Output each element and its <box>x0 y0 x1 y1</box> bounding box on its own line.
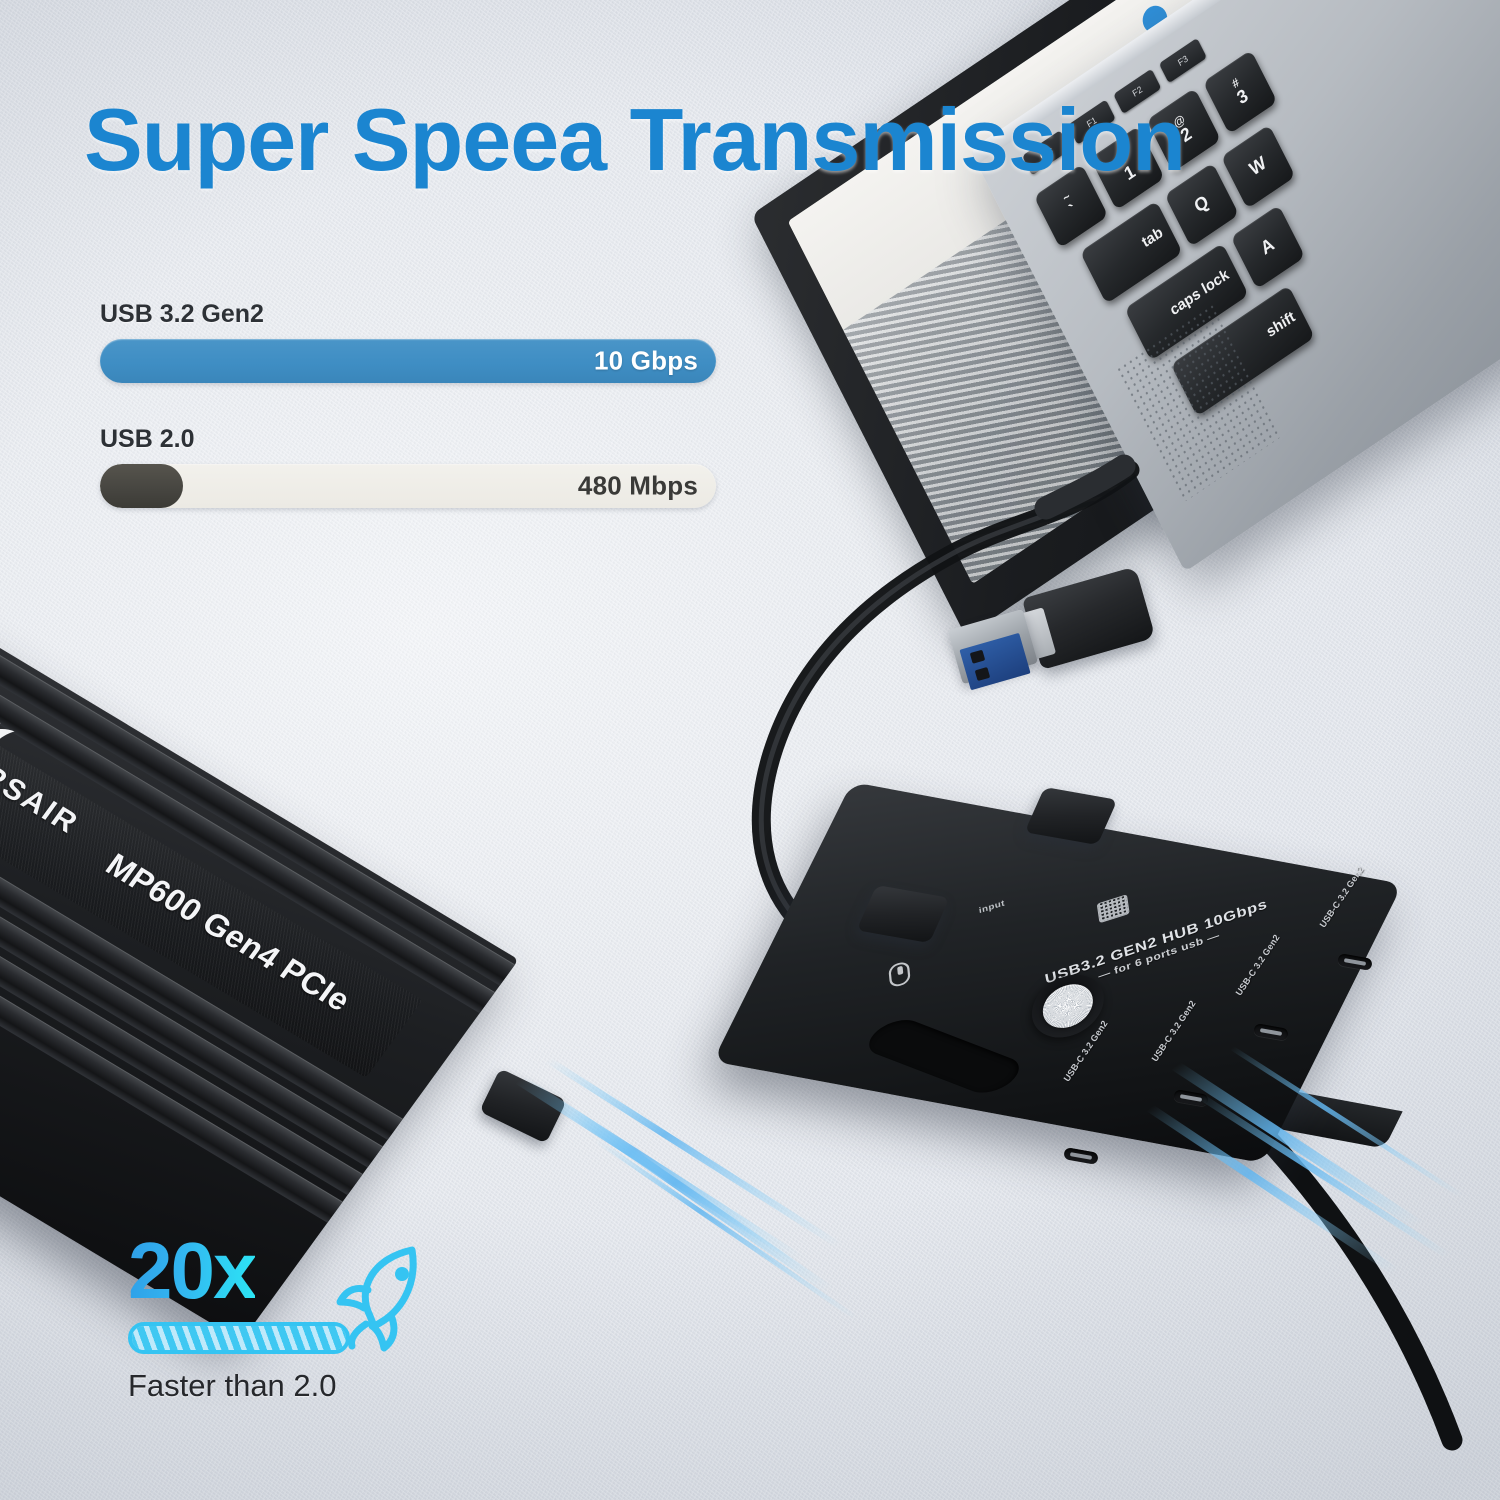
speed-comparison-chart: USB 3.2 Gen2 10 Gbps USB 2.0 480 Mbps <box>100 300 716 550</box>
mouse-icon <box>888 960 911 988</box>
key-3-shift: # <box>1230 76 1241 91</box>
key-backtick-main: ` <box>1067 201 1081 222</box>
bar-group-usb32: USB 3.2 Gen2 10 Gbps <box>100 300 716 383</box>
usb-a-pin <box>975 667 991 681</box>
badge-multiplier-text: 20x <box>128 1232 255 1310</box>
page-title: Super Speea Transmission <box>84 96 1484 184</box>
bar-track-usb32: 10 Gbps <box>100 339 716 383</box>
ssd-usb-c-plug <box>479 1068 567 1144</box>
usb-a-pin <box>970 650 986 664</box>
badge-progress-stripes <box>132 1326 346 1350</box>
key-a-label: A <box>1258 235 1278 260</box>
bar-group-usb20: USB 2.0 480 Mbps <box>100 425 716 508</box>
usb-a-blue-insert <box>959 633 1030 690</box>
badge-top-row: 20x <box>128 1232 468 1318</box>
bar-label-usb32: USB 3.2 Gen2 <box>100 300 716 329</box>
hub-input-label: input <box>978 898 1005 915</box>
key-a[interactable]: A <box>1231 205 1306 289</box>
bar-fill-usb20 <box>100 464 183 508</box>
key-tab-label: tab <box>1140 224 1166 251</box>
corsair-ssd-heatsink: CORSAIR MP600 Gen4 PCIe <box>0 630 690 1240</box>
key-q-label: Q <box>1191 192 1212 218</box>
hub-port-usb-c[interactable] <box>1063 1147 1099 1165</box>
usb-hub: USB3.2 GEN2 HUB 10Gbps — for 6 ports usb… <box>838 760 1458 1230</box>
hub-usb-a-slot <box>858 1015 1030 1099</box>
bar-track-usb20: 480 Mbps <box>100 464 716 508</box>
speed-multiplier-badge: 20x Faster than 2.0 <box>128 1232 468 1404</box>
bar-label-usb20: USB 2.0 <box>100 425 716 454</box>
key-backtick-shift: ~ <box>1061 190 1073 205</box>
key-shift-label: shift <box>1264 309 1298 342</box>
badge-caption: Faster than 2.0 <box>128 1368 468 1404</box>
hub-power-button-face <box>1035 980 1102 1031</box>
product-marketing-image: Ma esc F1 F2 F3 ~ ` ! 1 @ <box>0 0 1500 1500</box>
key-f3[interactable]: F3 <box>1159 38 1207 83</box>
bar-value-usb32: 10 Gbps <box>594 346 698 377</box>
usb-a-connector <box>948 609 1038 684</box>
qr-code-icon <box>1097 894 1130 923</box>
badge-progress-bar <box>128 1322 350 1354</box>
bar-value-usb20: 480 Mbps <box>578 471 698 502</box>
